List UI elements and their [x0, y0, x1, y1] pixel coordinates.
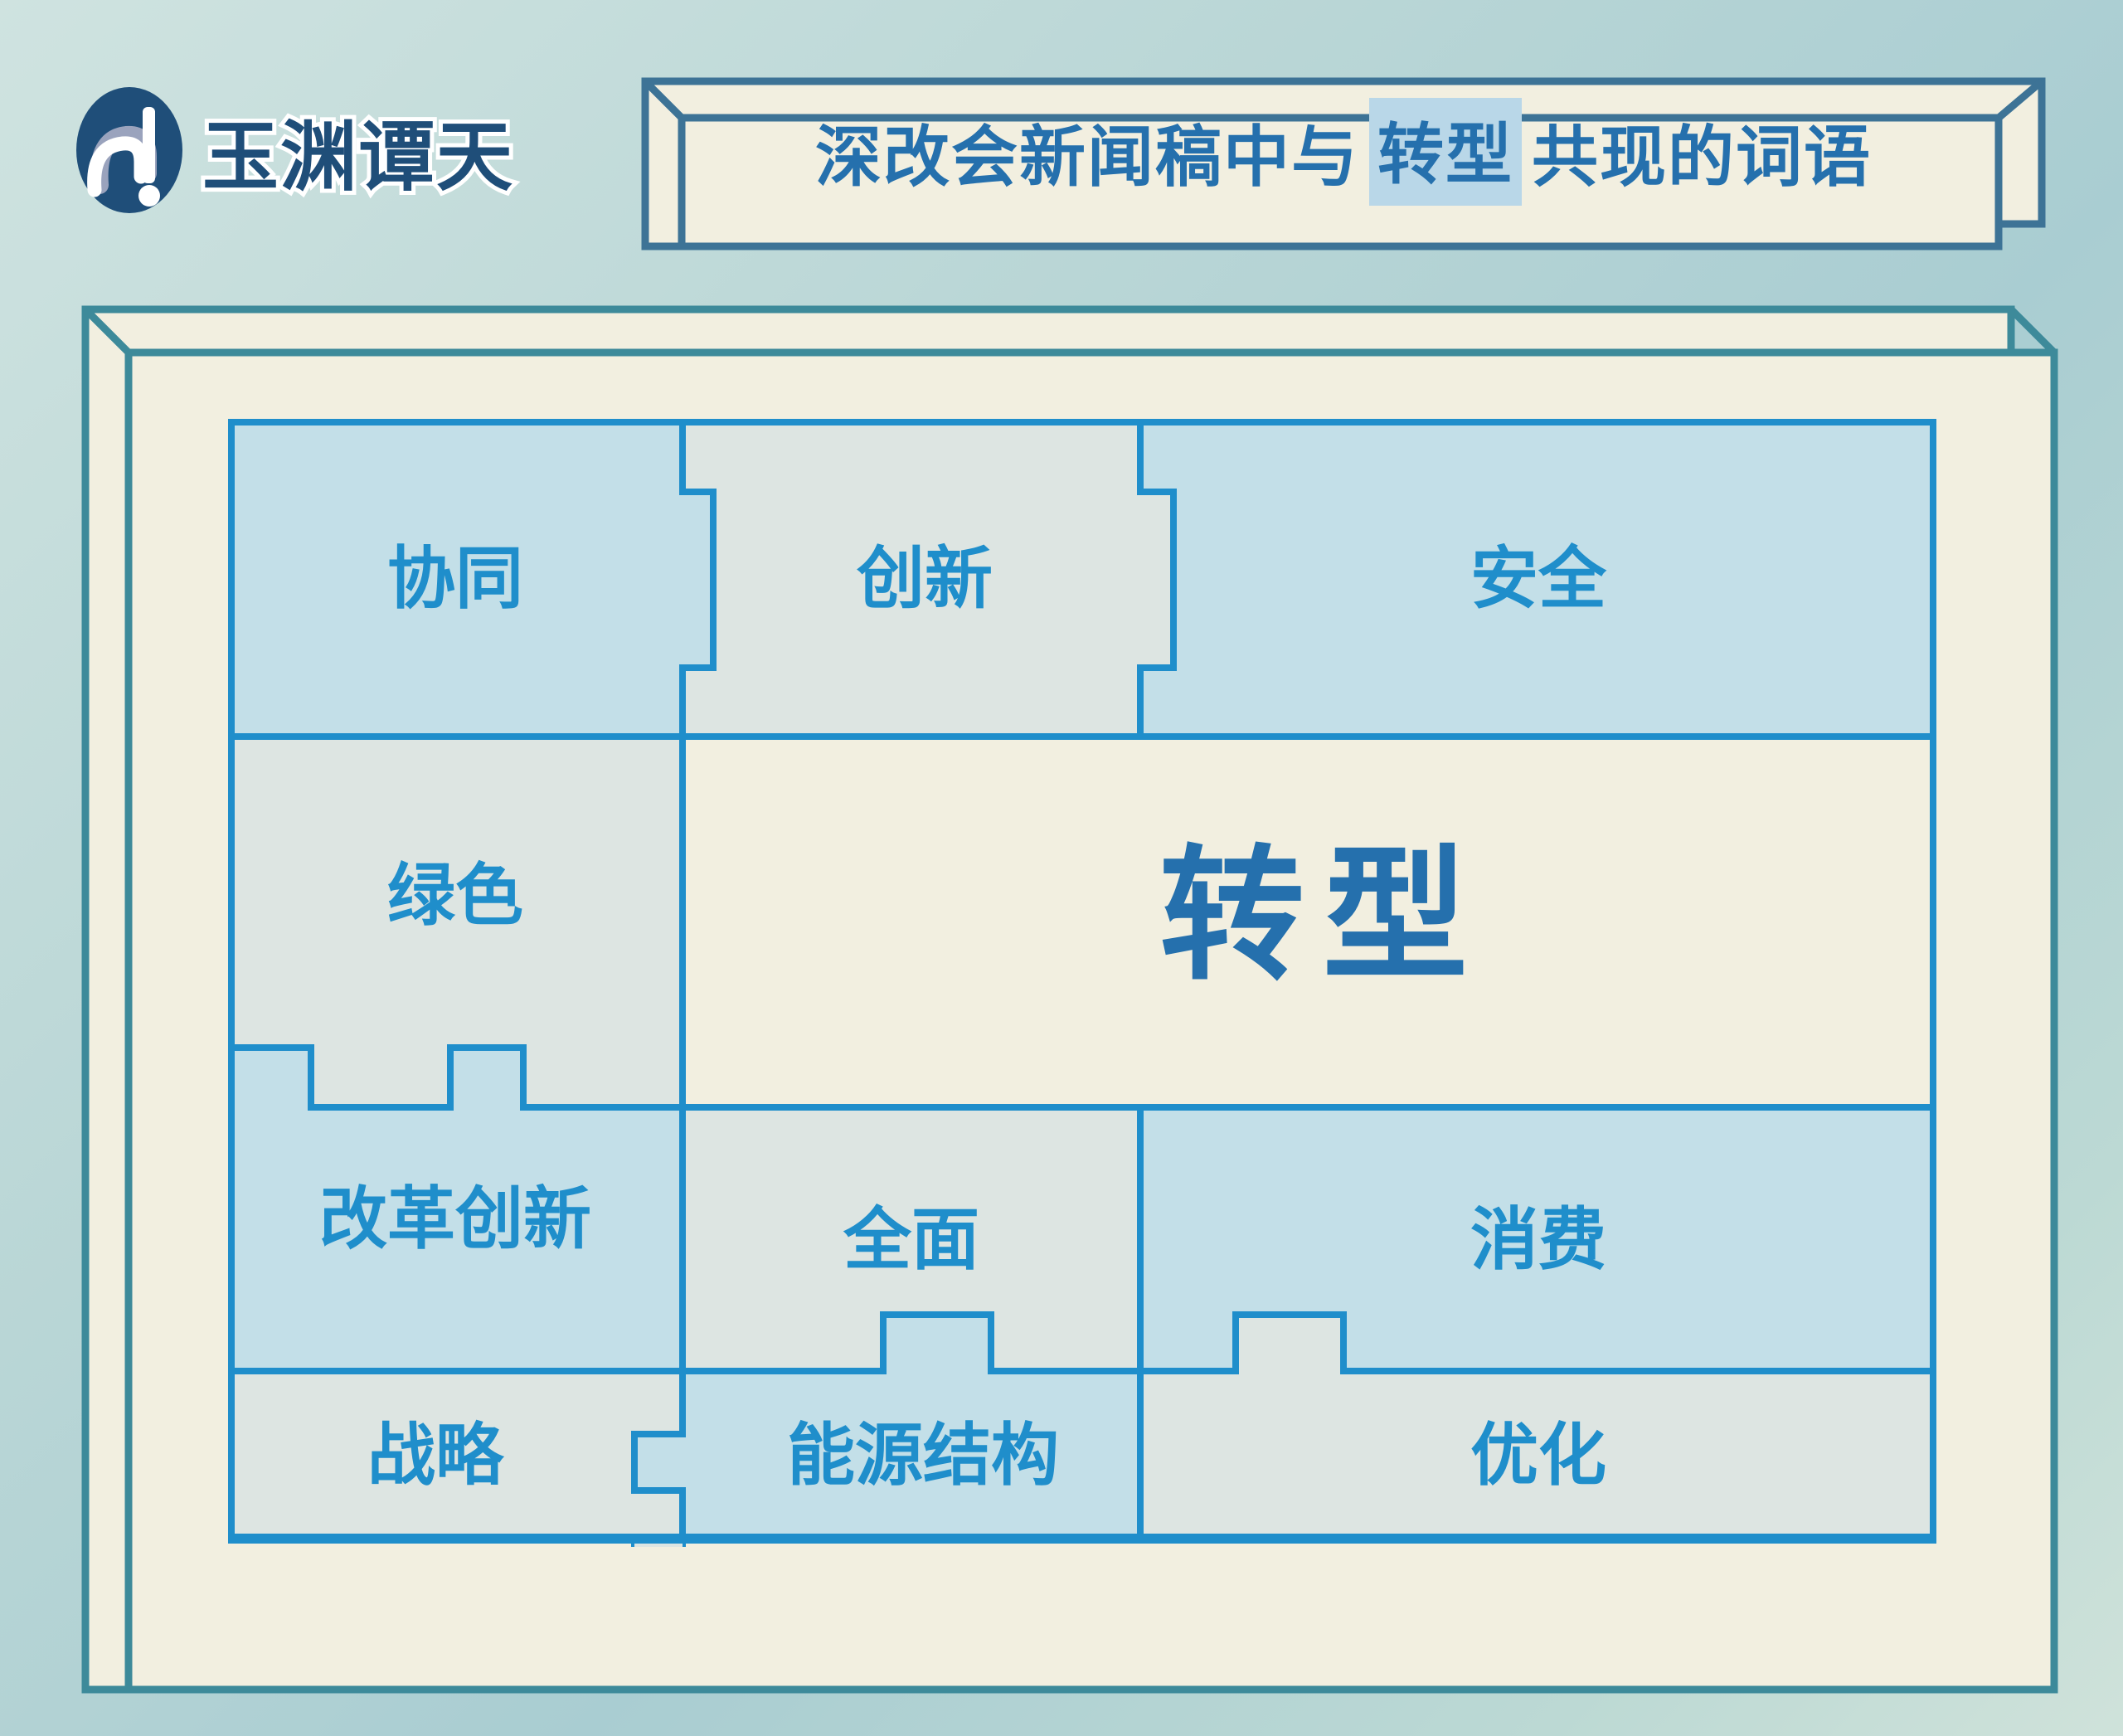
title-banner: 深改会新闻稿中与 转型 共现的词语 — [639, 75, 2048, 253]
cell-lvse-label: 绿色 — [387, 858, 523, 934]
cell-youhua-label: 优化 — [1470, 1418, 1606, 1494]
circular-emblem-icon — [75, 87, 184, 213]
cell-gaigechuangxin-label: 改革创新 — [319, 1182, 591, 1257]
word-cooccurrence-grid: 协同 创新 安全 绿色 转型 改革创新 全面 消费 战略 — [228, 419, 1936, 1547]
cell-quanmian-label: 全面 — [843, 1203, 979, 1278]
cell-chuangxin-label: 创新 — [856, 542, 993, 617]
center-term-label: 转型 — [1159, 836, 1486, 998]
cell-anquan[interactable]: 安全 — [1140, 419, 1936, 737]
title-suffix: 共现的词语 — [1532, 104, 1872, 200]
cell-zhanlue-label: 战略 — [367, 1418, 505, 1494]
page-title: 深改会新闻稿中与 转型 共现的词语 — [688, 98, 1999, 206]
cell-zhanlue[interactable]: 战略 — [228, 1371, 683, 1547]
brand-logo-text: 玉渊谭天 — [202, 95, 514, 206]
title-highlight-term: 转型 — [1369, 98, 1522, 206]
cell-xietong[interactable]: 协同 — [228, 419, 713, 737]
title-prefix: 深改会新闻稿中与 — [815, 104, 1359, 200]
cell-nengyuanjiegou-label: 能源结构 — [787, 1418, 1059, 1494]
puzzle-svg: 协同 创新 安全 绿色 转型 改革创新 全面 消费 战略 — [228, 419, 1936, 1547]
brand-logo: 玉渊谭天 — [75, 87, 514, 213]
cell-xiaofei-label: 消费 — [1470, 1203, 1606, 1278]
cell-center-zhuanxing[interactable]: 转型 — [683, 737, 1936, 1107]
cell-xietong-label: 协同 — [387, 542, 523, 617]
cell-anquan-label: 安全 — [1470, 542, 1607, 617]
cell-chuangxin[interactable]: 创新 — [683, 419, 1173, 737]
